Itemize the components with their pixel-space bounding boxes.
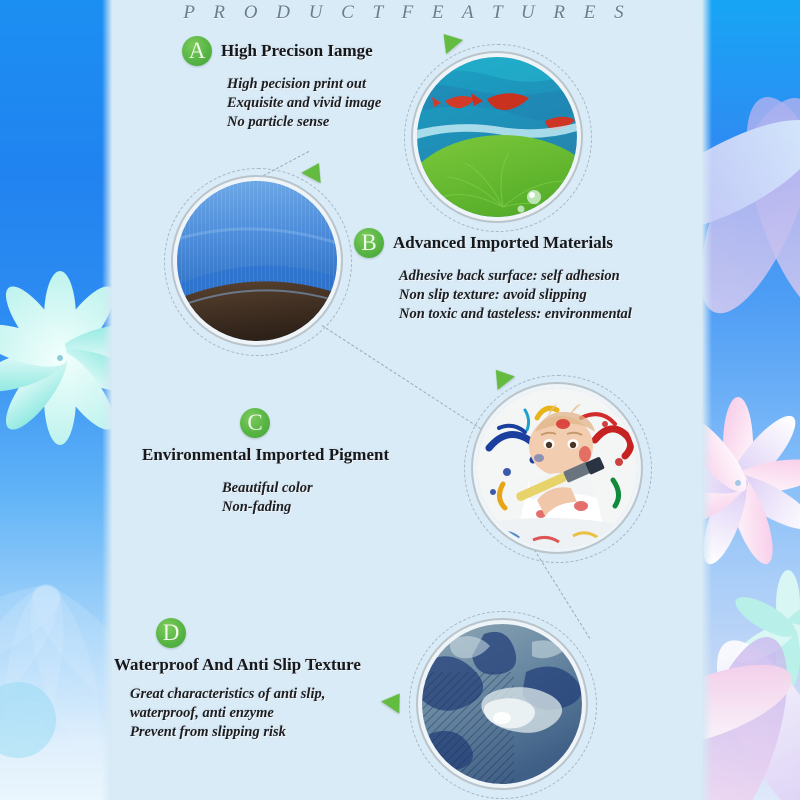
feature-a-line-2: Exquisite and vivid image (227, 94, 381, 113)
feature-b-lines: Adhesive back surface: self adhesion Non… (399, 267, 632, 324)
badge-d: D (156, 618, 186, 648)
feature-a-line-1: High pecision print out (227, 75, 381, 94)
badge-a: A (182, 36, 212, 66)
feature-c-photo (477, 388, 637, 548)
right-decorative-border (702, 0, 800, 800)
feature-b-heading: B Advanced Imported Materials (354, 228, 632, 258)
left-decorative-border (0, 0, 112, 800)
feature-a-lines: High pecision print out Exquisite and vi… (227, 75, 381, 132)
arrow-to-feature-b (301, 158, 328, 183)
content-panel: P R O D U C T F E A T U R E S A High Pre… (112, 0, 702, 800)
page-title: P R O D U C T F E A T U R E S (112, 2, 702, 24)
feature-block-c: C Environmental Imported Pigment Beautif… (142, 408, 389, 517)
feature-a-heading: A High Precison Iamge (182, 36, 381, 66)
feature-b-line-2: Non slip texture: avoid slipping (399, 286, 632, 305)
feature-d-heading: D Waterproof And Anti Slip Texture (112, 618, 361, 675)
product-features-infographic: P R O D U C T F E A T U R E S A High Pre… (0, 0, 800, 800)
koi-pond-lotus-leaf-photo (417, 57, 577, 217)
arrow-to-feature-c (487, 363, 515, 390)
feature-c-title: Environmental Imported Pigment (142, 445, 389, 465)
arrow-to-feature-a (435, 27, 463, 54)
feature-d-line-1: Great characteristics of anti slip, (130, 685, 361, 704)
feature-a-photo (417, 57, 577, 217)
left-border-flower-graphics (0, 0, 112, 800)
feature-a-title: High Precison Iamge (221, 41, 373, 61)
feature-block-b: B Advanced Imported Materials Adhesive b… (354, 228, 632, 324)
feature-c-line-1: Beautiful color (222, 479, 389, 498)
feature-b-line-3: Non toxic and tasteless: environmental (399, 305, 632, 324)
feature-a-line-3: No particle sense (227, 113, 381, 132)
feature-d-line-2: waterproof, anti enzyme (130, 704, 361, 723)
feature-d-line-3: Prevent from slipping risk (130, 723, 361, 742)
blue-textured-fabric-roll-photo (177, 181, 337, 341)
feature-c-lines: Beautiful color Non-fading (222, 479, 389, 517)
left-edge-fade (102, 0, 112, 800)
feature-block-d: D Waterproof And Anti Slip Texture Great… (112, 618, 361, 742)
feature-b-photo (177, 181, 337, 341)
feature-b-title: Advanced Imported Materials (393, 233, 613, 253)
feature-block-a: A High Precison Iamge High pecision prin… (182, 36, 381, 132)
right-edge-fade (702, 0, 712, 800)
feature-c-heading: C Environmental Imported Pigment (142, 408, 389, 465)
feature-d-title: Waterproof And Anti Slip Texture (114, 655, 361, 675)
right-border-flower-graphics (702, 0, 800, 800)
feature-d-lines: Great characteristics of anti slip, wate… (130, 685, 361, 742)
badge-c: C (240, 408, 270, 438)
baby-painting-with-brush-photo (477, 388, 637, 548)
feature-c-line-2: Non-fading (222, 498, 389, 517)
feature-d-photo (422, 624, 582, 784)
water-droplet-anti-slip-surface-photo (422, 624, 582, 784)
feature-b-line-1: Adhesive back surface: self adhesion (399, 267, 632, 286)
badge-b: B (354, 228, 384, 258)
arrow-to-feature-d (381, 687, 409, 713)
